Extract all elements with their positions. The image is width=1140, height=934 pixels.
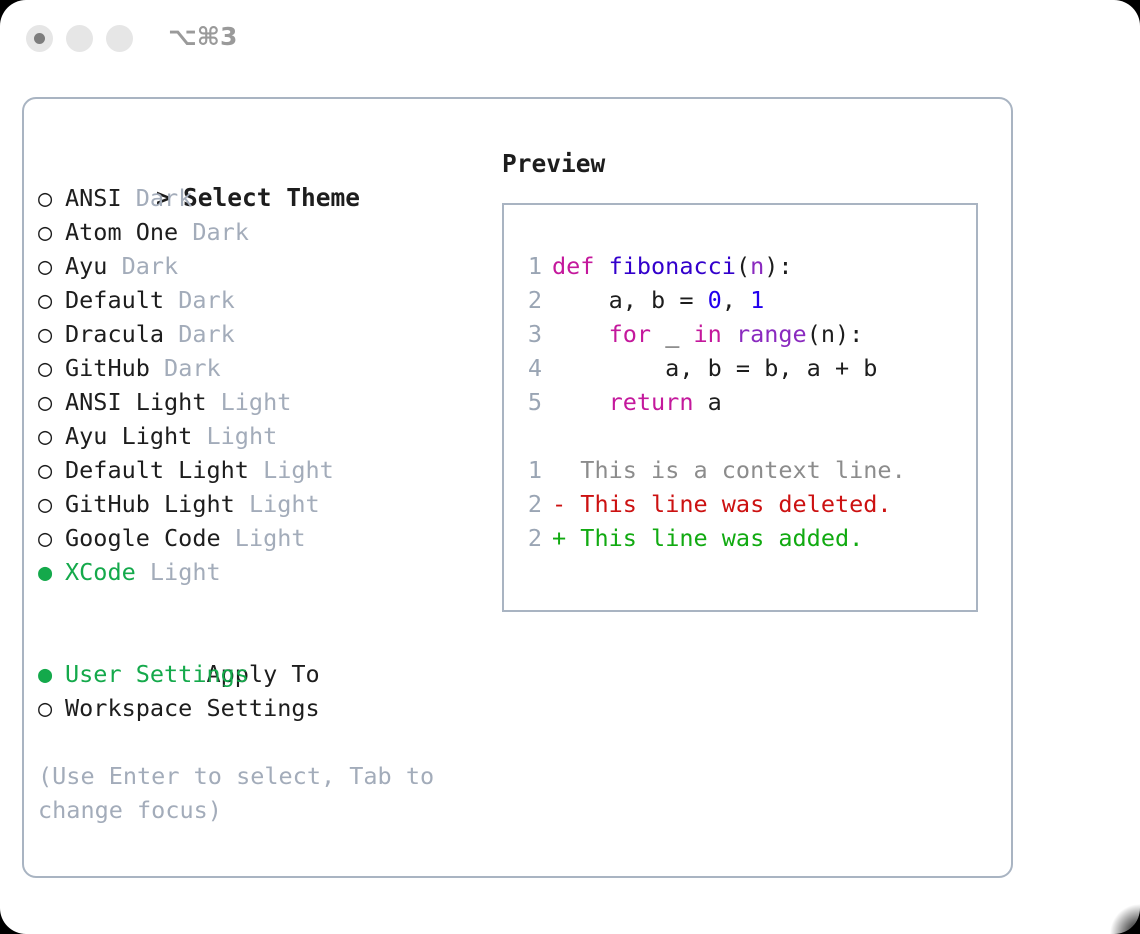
radio-unselected-icon: ○ <box>38 317 65 351</box>
theme-picker-column: >Select Theme ○ANSI Dark○Atom One Dark○A… <box>38 147 488 827</box>
code-token: a <box>693 388 721 416</box>
code-line: 3 for _ in range(n): <box>518 317 970 351</box>
theme-name: ANSI <box>65 184 122 212</box>
theme-variant-badge: Light <box>235 524 306 552</box>
theme-list-item[interactable]: ○Ayu Dark <box>38 249 488 283</box>
theme-list-item[interactable]: ○GitHub Dark <box>38 351 488 385</box>
code-token: a, b = b, a + b <box>552 354 877 382</box>
theme-list-item[interactable]: ○Dracula Dark <box>38 317 488 351</box>
diff-line: 2+ This line was added. <box>518 521 970 555</box>
diff-line: 1 This is a context line. <box>518 453 970 487</box>
code-line-number: 1 <box>518 249 542 283</box>
code-line-number: 5 <box>518 385 542 419</box>
theme-list-item[interactable]: ●XCode Light <box>38 555 488 589</box>
preview-title: Preview <box>502 147 1002 181</box>
theme-name: Google Code <box>65 524 221 552</box>
theme-name: Atom One <box>65 218 178 246</box>
code-token: for <box>609 320 651 348</box>
code-line-number: 2 <box>518 283 542 317</box>
theme-variant-badge: Light <box>207 422 278 450</box>
code-line: 2 a, b = 0, 1 <box>518 283 970 317</box>
code-line: 4 a, b = b, a + b <box>518 351 970 385</box>
diff-text: This line was added. <box>566 524 863 552</box>
code-token <box>722 320 736 348</box>
theme-variant-badge: Dark <box>164 354 221 382</box>
code-line-number: 4 <box>518 351 542 385</box>
diff-line-number: 2 <box>518 521 542 555</box>
apply-to-section: ○Apply To ●User Settings○Workspace Setti… <box>38 623 488 725</box>
theme-name: Dracula <box>65 320 164 348</box>
traffic-light-active[interactable] <box>26 25 53 52</box>
code-token: 1 <box>750 286 764 314</box>
theme-name: ANSI Light <box>65 388 206 416</box>
preview-box: 1def fibonacci(n):2 a, b = 0, 13 for _ i… <box>502 203 978 612</box>
code-token: , <box>722 286 750 314</box>
page-corner-shadow <box>1070 892 1140 934</box>
apply-to-item-label: Workspace Settings <box>65 694 320 722</box>
diff-line: 2- This line was deleted. <box>518 487 970 521</box>
code-line-number: 3 <box>518 317 542 351</box>
code-token: ): <box>764 252 792 280</box>
app-window: ⌥⌘3 >Select Theme ○ANSI Dark○Atom One Da… <box>0 0 1140 934</box>
theme-name: GitHub <box>65 354 150 382</box>
traffic-light-second[interactable] <box>66 25 93 52</box>
radio-unselected-icon: ○ <box>38 215 65 249</box>
window-titlebar: ⌥⌘3 <box>0 0 1140 78</box>
radio-unselected-icon: ○ <box>38 419 65 453</box>
theme-list-item[interactable]: ○Google Code Light <box>38 521 488 555</box>
theme-variant-badge: Light <box>221 388 292 416</box>
code-token: fibonacci <box>609 252 736 280</box>
theme-list-item[interactable]: ○GitHub Light Light <box>38 487 488 521</box>
diff-sign: + <box>552 524 566 552</box>
preview-column: Preview 1def fibonacci(n):2 a, b = 0, 13… <box>502 147 1002 612</box>
code-token: in <box>694 320 722 348</box>
theme-name: Default Light <box>65 456 249 484</box>
theme-variant-badge: Light <box>249 490 320 518</box>
apply-to-item-label: User Settings <box>65 660 249 688</box>
theme-list-item[interactable]: ○Atom One Dark <box>38 215 488 249</box>
theme-variant-badge: Light <box>263 456 334 484</box>
theme-list-item[interactable]: ○Default Light Light <box>38 453 488 487</box>
code-block-separator <box>518 419 970 453</box>
keyboard-shortcut-label: ⌥⌘3 <box>168 22 237 51</box>
theme-list-item[interactable]: ○Ayu Light Light <box>38 419 488 453</box>
radio-unselected-icon: ○ <box>38 283 65 317</box>
radio-unselected-icon: ○ <box>38 691 65 725</box>
code-token: 0 <box>708 286 722 314</box>
code-token: return <box>609 388 694 416</box>
theme-variant-badge: Dark <box>178 286 235 314</box>
theme-list-item[interactable]: ○Default Dark <box>38 283 488 317</box>
radio-unselected-icon: ○ <box>38 351 65 385</box>
theme-variant-badge: Dark <box>122 252 179 280</box>
diff-sign: - <box>552 490 566 518</box>
code-token <box>552 388 609 416</box>
dialog-panel: >Select Theme ○ANSI Dark○Atom One Dark○A… <box>22 97 1013 878</box>
diff-text: This line was deleted. <box>566 490 891 518</box>
preview-code-area: 1def fibonacci(n):2 a, b = 0, 13 for _ i… <box>518 249 970 555</box>
traffic-light-third[interactable] <box>106 25 133 52</box>
code-line: 1def fibonacci(n): <box>518 249 970 283</box>
radio-unselected-icon: ○ <box>38 385 65 419</box>
diff-line-number: 2 <box>518 487 542 521</box>
theme-list: ○ANSI Dark○Atom One Dark○Ayu Dark○Defaul… <box>38 181 488 589</box>
code-token: n <box>750 252 764 280</box>
theme-name: Ayu Light <box>65 422 192 450</box>
theme-name: Default <box>65 286 164 314</box>
code-token: _ <box>651 320 693 348</box>
code-token: range <box>736 320 807 348</box>
diff-text: This is a context line. <box>566 456 906 484</box>
theme-name: Ayu <box>65 252 107 280</box>
diff-line-number: 1 <box>518 453 542 487</box>
apply-to-item[interactable]: ○Workspace Settings <box>38 691 488 725</box>
keyboard-hint: (Use Enter to select, Tab to change focu… <box>38 759 458 827</box>
theme-variant-badge: Dark <box>136 184 193 212</box>
theme-variant-badge: Light <box>150 558 221 586</box>
code-token: a, b = <box>552 286 708 314</box>
theme-variant-badge: Dark <box>178 320 235 348</box>
radio-unselected-icon: ○ <box>38 487 65 521</box>
apply-to-header: ○Apply To <box>38 623 488 657</box>
radio-unselected-icon: ○ <box>38 181 65 215</box>
theme-variant-badge: Dark <box>192 218 249 246</box>
radio-selected-icon: ● <box>38 657 65 691</box>
radio-unselected-icon: ○ <box>38 453 65 487</box>
radio-selected-icon: ● <box>38 555 65 589</box>
code-token <box>552 320 609 348</box>
code-token: (n): <box>807 320 864 348</box>
select-theme-label: Select Theme <box>183 183 360 212</box>
select-theme-header: >Select Theme <box>38 147 488 181</box>
code-token: ( <box>736 252 750 280</box>
active-dot-icon <box>34 33 45 44</box>
theme-name: GitHub Light <box>65 490 235 518</box>
theme-list-item[interactable]: ○ANSI Light Light <box>38 385 488 419</box>
code-line: 5 return a <box>518 385 970 419</box>
theme-name: XCode <box>65 558 136 586</box>
diff-sign <box>552 456 566 484</box>
code-token: def <box>552 252 609 280</box>
radio-unselected-icon: ○ <box>38 521 65 555</box>
radio-unselected-icon: ○ <box>38 249 65 283</box>
